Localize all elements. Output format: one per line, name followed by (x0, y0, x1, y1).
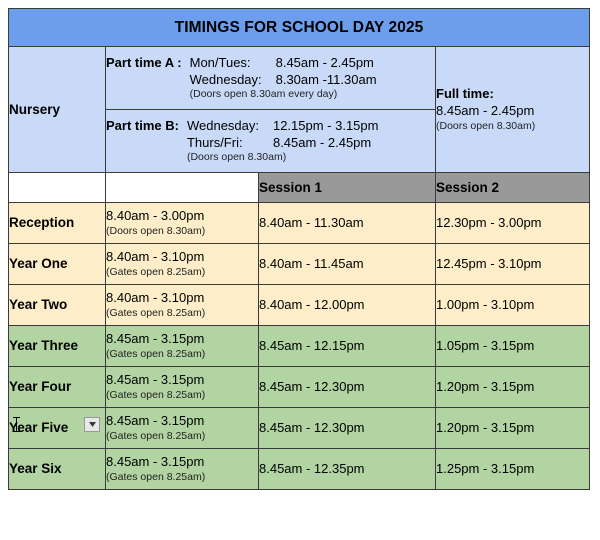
year-session-2-time: 1.00pm - 3.10pm (436, 297, 534, 312)
year-main-note: (Gates open 8.25am) (106, 471, 258, 484)
year-main-time-cell: 8.45am - 3.15pm (Gates open 8.25am) (106, 408, 259, 449)
year-session-2-time: 12.45pm - 3.10pm (436, 256, 542, 271)
part-time-a-key-spacer (106, 71, 190, 88)
header-session-2-cell: Session 2 (436, 173, 590, 203)
year-session-1-time: 8.45am - 12.30pm (259, 420, 365, 435)
year-label-cell: Year Three (9, 326, 106, 367)
table-row: Year Six 8.45am - 3.15pm (Gates open 8.2… (9, 449, 590, 490)
header-session-1-label: Session 1 (259, 180, 322, 195)
year-session-2-time: 1.20pm - 3.15pm (436, 379, 534, 394)
year-session-1-time: 8.45am - 12.30pm (259, 379, 365, 394)
year-main-time: 8.40am - 3.10pm (106, 290, 258, 307)
full-time-time: 8.45am - 2.45pm (436, 103, 589, 120)
spreadsheet-canvas: TIMINGS FOR SCHOOL DAY 2025 Nursery Part… (0, 0, 600, 540)
part-time-b-key: Part time B: (106, 117, 187, 134)
header-session-2-label: Session 2 (436, 180, 499, 195)
year-session-1-cell: 8.45am - 12.30pm (259, 408, 436, 449)
part-time-a-key: Part time A : (106, 54, 190, 71)
header-session-1-cell: Session 1 (259, 173, 436, 203)
year-label-cell: Year Two (9, 285, 106, 326)
table-row: Year Two 8.40am - 3.10pm (Gates open 8.2… (9, 285, 590, 326)
year-session-2-cell: 1.25pm - 3.15pm (436, 449, 590, 490)
year-session-1-time: 8.40am - 11.30am (259, 215, 364, 230)
year-session-1-time: 8.40am - 12.00pm (259, 297, 365, 312)
year-session-1-cell: 8.40am - 11.45am (259, 244, 436, 285)
year-main-note: (Gates open 8.25am) (106, 266, 258, 279)
year-main-time: 8.45am - 3.15pm (106, 331, 258, 348)
title-row: TIMINGS FOR SCHOOL DAY 2025 (9, 9, 590, 47)
part-time-b-line-2: Thurs/Fri:8.45am - 2.45pm (187, 134, 379, 151)
part-time-b-key-spacer (106, 134, 187, 151)
part-time-b-key-spacer-2 (106, 151, 187, 165)
year-session-2-time: 1.25pm - 3.15pm (436, 461, 534, 476)
year-session-2-cell: 1.05pm - 3.15pm (436, 326, 590, 367)
year-session-1-cell: 8.40am - 11.30am (259, 203, 436, 244)
year-main-note: (Gates open 8.25am) (106, 389, 258, 402)
full-time-title: Full time: (436, 86, 589, 103)
year-session-2-cell: 1.00pm - 3.10pm (436, 285, 590, 326)
school-day-timings-table: TIMINGS FOR SCHOOL DAY 2025 Nursery Part… (8, 8, 590, 490)
part-time-b-time-1: 12.15pm - 3.15pm (273, 118, 379, 133)
year-session-2-cell: 12.45pm - 3.10pm (436, 244, 590, 285)
nursery-full-time-cell: Full time: 8.45am - 2.45pm (Doors open 8… (436, 47, 590, 173)
page-title: TIMINGS FOR SCHOOL DAY 2025 (175, 19, 424, 36)
year-main-time: 8.40am - 3.00pm (106, 208, 258, 225)
year-main-time: 8.40am - 3.10pm (106, 249, 258, 266)
part-time-a-line-1: Mon/Tues:8.45am - 2.45pm (190, 54, 377, 71)
year-main-time-cell: 8.45am - 3.15pm (Gates open 8.25am) (106, 326, 259, 367)
text-cursor-serif-top (13, 417, 20, 418)
nursery-part-time-b-cell: Part time B: Wednesday:12.15pm - 3.15pm … (106, 110, 436, 173)
year-session-2-time: 12.30pm - 3.00pm (436, 215, 542, 230)
year-session-1-time: 8.45am - 12.35pm (259, 461, 365, 476)
year-session-2-cell: 1.20pm - 3.15pm (436, 408, 590, 449)
year-session-1-cell: 8.45am - 12.15pm (259, 326, 436, 367)
part-time-a-day-1: Mon/Tues: (190, 54, 276, 71)
table-title-cell: TIMINGS FOR SCHOOL DAY 2025 (9, 9, 590, 47)
table-row: Reception 8.40am - 3.00pm (Doors open 8.… (9, 203, 590, 244)
year-main-time: 8.45am - 3.15pm (106, 372, 258, 389)
session-header-row: Session 1 Session 2 (9, 173, 590, 203)
nursery-part-time-a-cell: Part time A : Mon/Tues:8.45am - 2.45pm W… (106, 47, 436, 110)
year-session-1-cell: 8.45am - 12.30pm (259, 367, 436, 408)
year-session-1-time: 8.40am - 11.45am (259, 256, 364, 271)
text-cursor (16, 417, 17, 432)
part-time-a-time-2: 8.30am -11.30am (276, 72, 377, 87)
year-session-1-cell: 8.45am - 12.35pm (259, 449, 436, 490)
year-label: Reception (9, 215, 74, 230)
year-session-1-cell: 8.40am - 12.00pm (259, 285, 436, 326)
year-label-cell: Year Six (9, 449, 106, 490)
year-main-time-cell: 8.45am - 3.15pm (Gates open 8.25am) (106, 367, 259, 408)
table-row: Year Five 8.45am - 3.15pm (Gates open 8.… (9, 408, 590, 449)
year-main-time: 8.45am - 3.15pm (106, 454, 258, 471)
year-label: Year Six (9, 461, 62, 476)
year-label-cell: Reception (9, 203, 106, 244)
chevron-down-icon[interactable] (84, 417, 100, 432)
part-time-b-line-1: Wednesday:12.15pm - 3.15pm (187, 117, 379, 134)
year-main-note: (Doors open 8.30am) (106, 225, 258, 238)
text-cursor-serif-bottom (13, 431, 20, 432)
header-blank-main-cell (106, 173, 259, 203)
table-row: Year Three 8.45am - 3.15pm (Gates open 8… (9, 326, 590, 367)
year-label: Year Two (9, 297, 67, 312)
table-row: Year One 8.40am - 3.10pm (Gates open 8.2… (9, 244, 590, 285)
year-main-time-cell: 8.40am - 3.10pm (Gates open 8.25am) (106, 244, 259, 285)
year-session-1-time: 8.45am - 12.15pm (259, 338, 365, 353)
year-session-2-time: 1.05pm - 3.15pm (436, 338, 534, 353)
nursery-part-time-a-row: Nursery Part time A : Mon/Tues:8.45am - … (9, 47, 590, 110)
part-time-a-key-spacer-2 (106, 88, 190, 102)
year-label-cell: Year One (9, 244, 106, 285)
year-label: Year Five (9, 420, 68, 435)
part-time-b-day-2: Thurs/Fri: (187, 134, 273, 151)
full-time-note: (Doors open 8.30am) (436, 120, 589, 134)
part-time-a-line-2: Wednesday:8.30am -11.30am (190, 71, 377, 88)
table-row: Year Four 8.45am - 3.15pm (Gates open 8.… (9, 367, 590, 408)
header-blank-year-cell (9, 173, 106, 203)
year-main-time-cell: 8.45am - 3.15pm (Gates open 8.25am) (106, 449, 259, 490)
part-time-a-day-2: Wednesday: (190, 71, 276, 88)
year-label: Year One (9, 256, 68, 271)
year-main-note: (Gates open 8.25am) (106, 430, 258, 443)
year-main-note: (Gates open 8.25am) (106, 348, 258, 361)
year-main-time: 8.45am - 3.15pm (106, 413, 258, 430)
nursery-label: Nursery (9, 102, 60, 117)
year-session-2-cell: 1.20pm - 3.15pm (436, 367, 590, 408)
year-label: Year Three (9, 338, 78, 353)
nursery-label-cell: Nursery (9, 47, 106, 173)
part-time-b-day-1: Wednesday: (187, 117, 273, 134)
part-time-b-note: (Doors open 8.30am) (187, 151, 379, 165)
year-session-2-time: 1.20pm - 3.15pm (436, 420, 534, 435)
year-label-cell: Year Four (9, 367, 106, 408)
part-time-b-time-2: 8.45am - 2.45pm (273, 135, 371, 150)
year-label: Year Four (9, 379, 71, 394)
year-session-2-cell: 12.30pm - 3.00pm (436, 203, 590, 244)
year-main-time-cell: 8.40am - 3.00pm (Doors open 8.30am) (106, 203, 259, 244)
year-label-cell-active[interactable]: Year Five (9, 408, 106, 449)
part-time-a-time-1: 8.45am - 2.45pm (276, 55, 374, 70)
part-time-a-note: (Doors open 8.30am every day) (190, 88, 377, 102)
year-main-note: (Gates open 8.25am) (106, 307, 258, 320)
year-main-time-cell: 8.40am - 3.10pm (Gates open 8.25am) (106, 285, 259, 326)
